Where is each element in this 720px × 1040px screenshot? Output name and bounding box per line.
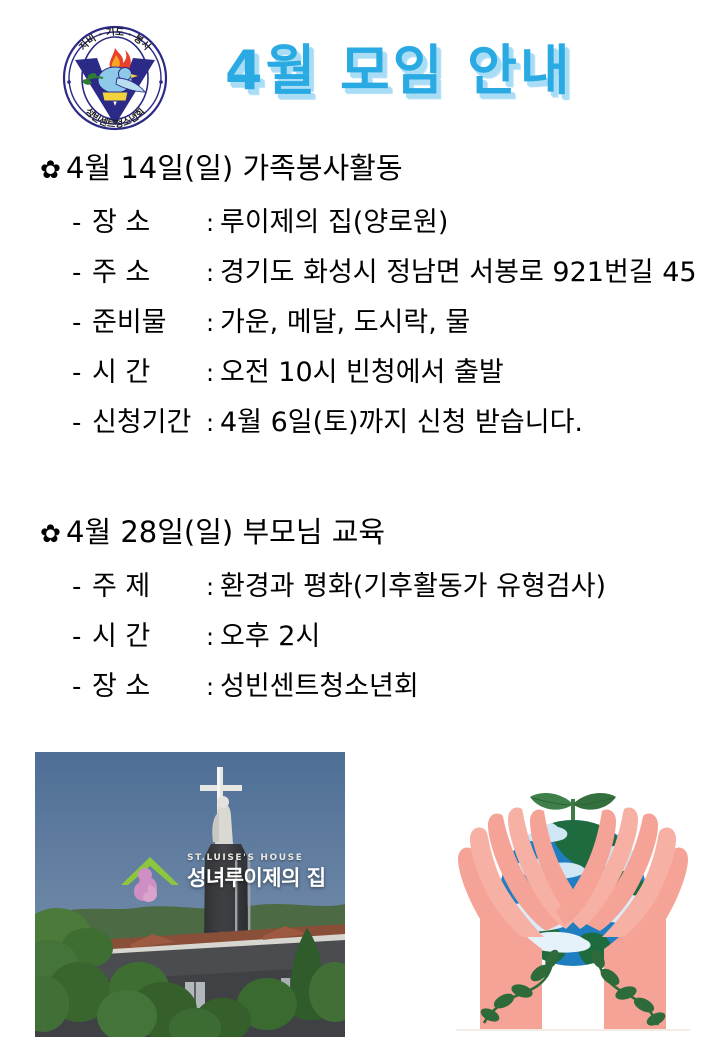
detail-line-signup-period: - 신청기간 : 4월 6일(토)까지 신청 받습니다. bbox=[0, 398, 720, 448]
hands-holding-earth-illustration bbox=[432, 753, 714, 1038]
section-heading-text: 4월 14일(일) 가족봉사활동 bbox=[66, 140, 403, 196]
field-label: 준비물 bbox=[92, 298, 200, 348]
colon-separator: : bbox=[200, 612, 220, 662]
dash-marker: - bbox=[72, 562, 92, 612]
colon-separator: : bbox=[200, 298, 220, 348]
dash-marker: - bbox=[72, 348, 92, 398]
detail-line-place: - 장 소 : 루이제의 집(양로원) bbox=[0, 198, 720, 248]
organization-logo: 자비 · 기도 · 봉사 성빈센트청소년회 bbox=[55, 22, 175, 134]
field-label: 장 소 bbox=[92, 198, 200, 248]
field-label: 주 제 bbox=[92, 562, 200, 612]
section-heading: ✿ 4월 14일(일) 가족봉사활동 bbox=[0, 140, 720, 198]
poster-title-wrap: 4월 모임 안내 bbox=[225, 28, 645, 114]
detail-line-time: - 시 간 : 오전 10시 빈청에서 출발 bbox=[0, 348, 720, 398]
dash-marker: - bbox=[72, 398, 92, 448]
dash-marker: - bbox=[72, 248, 92, 298]
photo-strip: ST.LUISE'S HOUSE 성녀루이제의 집 bbox=[0, 745, 720, 1040]
dash-marker: - bbox=[72, 612, 92, 662]
field-value: 성빈센트청소년회 bbox=[220, 662, 419, 712]
field-value: 환경과 평화(기후활동가 유형검사) bbox=[220, 562, 606, 612]
colon-separator: : bbox=[200, 348, 220, 398]
dash-marker: - bbox=[72, 662, 92, 712]
field-label: 주 소 bbox=[92, 248, 200, 298]
field-label: 시 간 bbox=[92, 612, 200, 662]
field-label: 신청기간 bbox=[92, 398, 200, 448]
detail-line-supplies: - 준비물 : 가운, 메달, 도시락, 물 bbox=[0, 298, 720, 348]
section-family-volunteer-activity: ✿ 4월 14일(일) 가족봉사활동 - 장 소 : 루이제의 집(양로원) -… bbox=[0, 140, 720, 448]
detail-line-time: - 시 간 : 오후 2시 bbox=[0, 612, 720, 662]
flower-bullet-icon: ✿ bbox=[40, 506, 66, 562]
colon-separator: : bbox=[200, 248, 220, 298]
dash-marker: - bbox=[72, 298, 92, 348]
poster-header: 자비 · 기도 · 봉사 성빈센트청소년회 4월 모임 안내 bbox=[0, 0, 720, 140]
detail-line-topic: - 주 제 : 환경과 평화(기후활동가 유형검사) bbox=[0, 562, 720, 612]
flower-bullet-icon: ✿ bbox=[40, 142, 66, 198]
page-title: 4월 모임 안내 bbox=[225, 28, 645, 114]
detail-line-address: - 주 소 : 경기도 화성시 정남면 서봉로 921번길 45 bbox=[0, 248, 720, 298]
field-label: 장 소 bbox=[92, 662, 200, 712]
field-value: 가운, 메달, 도시락, 물 bbox=[220, 298, 470, 348]
section-heading-text: 4월 28일(일) 부모님 교육 bbox=[66, 504, 385, 560]
dash-marker: - bbox=[72, 198, 92, 248]
field-value: 루이제의 집(양로원) bbox=[220, 198, 448, 248]
detail-line-place: - 장 소 : 성빈센트청소년회 bbox=[0, 662, 720, 712]
field-value: 경기도 화성시 정남면 서봉로 921번길 45 bbox=[220, 248, 697, 298]
announcement-body: ✿ 4월 14일(일) 가족봉사활동 - 장 소 : 루이제의 집(양로원) -… bbox=[0, 140, 720, 712]
colon-separator: : bbox=[200, 562, 220, 612]
st-luises-house-photo: ST.LUISE'S HOUSE 성녀루이제의 집 bbox=[35, 752, 345, 1037]
field-value: 4월 6일(토)까지 신청 받습니다. bbox=[220, 398, 583, 448]
colon-separator: : bbox=[200, 198, 220, 248]
section-heading: ✿ 4월 28일(일) 부모님 교육 bbox=[0, 504, 720, 562]
field-value: 오전 10시 빈청에서 출발 bbox=[220, 348, 504, 398]
section-parents-education: ✿ 4월 28일(일) 부모님 교육 - 주 제 : 환경과 평화(기후활동가 … bbox=[0, 504, 720, 712]
colon-separator: : bbox=[200, 662, 220, 712]
colon-separator: : bbox=[200, 398, 220, 448]
field-value: 오후 2시 bbox=[220, 612, 320, 662]
section-spacer bbox=[0, 448, 720, 504]
field-label: 시 간 bbox=[92, 348, 200, 398]
